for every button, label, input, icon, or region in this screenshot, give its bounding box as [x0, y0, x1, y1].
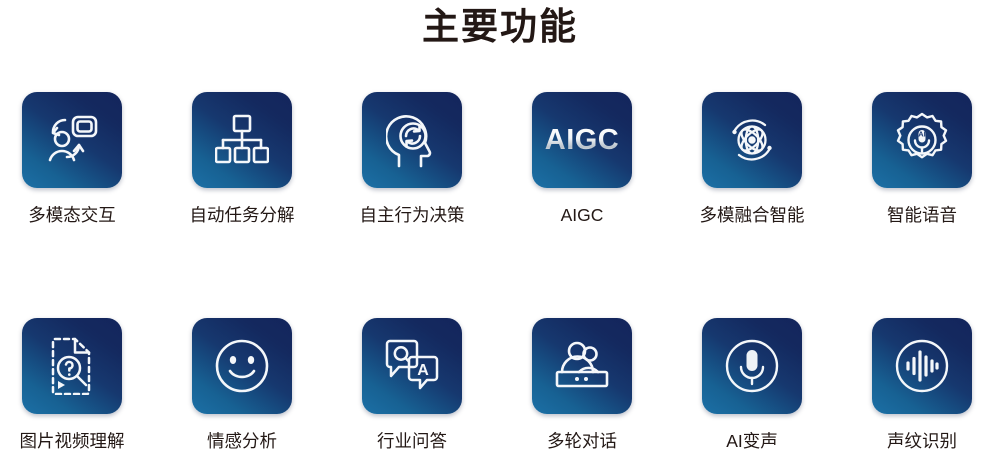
feature-item-image-video-understanding[interactable]: 图片视频理解	[22, 318, 122, 452]
multimodal-interaction-icon	[43, 113, 101, 167]
feature-item-intelligent-voice[interactable]: AI 智能语音	[872, 92, 972, 226]
feature-label: 多模态交互	[28, 204, 116, 226]
smiley-face-icon	[214, 338, 270, 394]
voiceprint-waveform-circle-icon	[894, 338, 950, 394]
feature-tile[interactable]	[192, 92, 292, 188]
feature-tile[interactable]	[532, 318, 632, 414]
feature-item-autonomous-decision[interactable]: 自主行为决策	[362, 92, 462, 226]
feature-item-multimodal-interaction[interactable]: 多模态交互	[22, 92, 122, 226]
feature-label: 多模融合智能	[700, 204, 805, 226]
two-people-desk-dialogue-icon	[553, 341, 611, 391]
feature-item-ai-voice-change[interactable]: AI变声	[702, 318, 802, 452]
feature-label: 多轮对话	[547, 430, 617, 452]
feature-tile[interactable]	[192, 318, 292, 414]
feature-label: 声纹识别	[887, 430, 957, 452]
feature-label: 智能语音	[887, 204, 957, 226]
feature-label: AI变声	[726, 430, 778, 452]
page-title: 主要功能	[0, 2, 1000, 52]
feature-item-task-decomposition[interactable]: 自动任务分解	[192, 92, 292, 226]
feature-grid: 多模态交互 自动任务分解	[0, 92, 1000, 452]
gear-ai-microphone-icon: AI	[894, 112, 950, 168]
feature-tile[interactable]	[702, 92, 802, 188]
feature-tile[interactable]: AIGC	[532, 92, 632, 188]
feature-item-multimodal-fusion[interactable]: 多模融合智能	[702, 92, 802, 226]
feature-tile[interactable]	[872, 318, 972, 414]
feature-label: 行业问答	[377, 430, 447, 452]
feature-label: AIGC	[561, 204, 604, 226]
feature-item-industry-qa[interactable]: A 行业问答	[362, 318, 462, 452]
feature-row-2: 图片视频理解 情感分析	[0, 318, 1000, 452]
feature-item-voiceprint-recognition[interactable]: 声纹识别	[872, 318, 972, 452]
feature-label: 图片视频理解	[20, 430, 125, 452]
atom-orbit-icon	[723, 112, 781, 168]
feature-tile[interactable]: A	[362, 318, 462, 414]
feature-row-1: 多模态交互 自动任务分解	[0, 92, 1000, 226]
feature-tile[interactable]	[702, 318, 802, 414]
feature-tile[interactable]: AI	[872, 92, 972, 188]
document-magnifier-question-icon	[47, 337, 97, 395]
feature-item-aigc[interactable]: AIGC AIGC	[532, 92, 632, 226]
task-decomposition-hierarchy-icon	[215, 114, 269, 166]
microphone-circle-icon	[724, 338, 780, 394]
feature-item-multi-turn-dialogue[interactable]: 多轮对话	[532, 318, 632, 452]
feature-tile[interactable]	[362, 92, 462, 188]
feature-label: 情感分析	[207, 430, 277, 452]
qa-speech-bubbles-icon: A	[383, 339, 441, 393]
feature-item-sentiment-analysis[interactable]: 情感分析	[192, 318, 292, 452]
aigc-text-icon: AIGC	[545, 126, 620, 155]
feature-tile[interactable]	[22, 92, 122, 188]
feature-tile[interactable]	[22, 318, 122, 414]
head-decision-cycle-icon	[386, 112, 438, 168]
feature-label: 自动任务分解	[190, 204, 295, 226]
svg-text:A: A	[417, 362, 429, 379]
feature-label: 自主行为决策	[360, 204, 465, 226]
svg-text:AI: AI	[918, 130, 926, 139]
